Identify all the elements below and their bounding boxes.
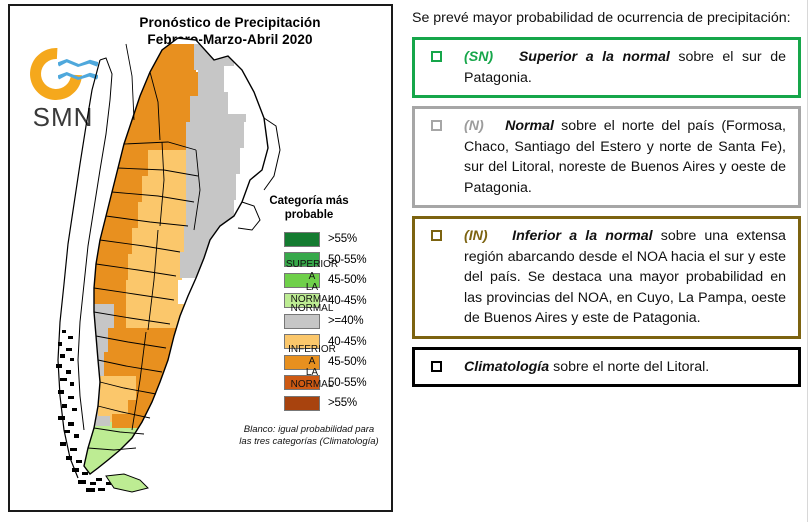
legend-note-line2: las tres categorías (Climatología) [228,436,390,448]
legend-title: Categoría más probable [228,194,390,222]
legend-group-superior-line2: LA NORMAL [284,282,340,305]
legend-item: >55% [284,229,390,250]
summary-panel: Se prevé mayor probabilidad de ocurrenci… [404,0,809,522]
category-emphasis-clim: Climatología [464,359,549,375]
legend-title-line2: probable [228,208,390,222]
legend-group-inferior-line1: INFERIOR A [284,344,340,367]
category-rest-clim: sobre el norte del Litoral. [553,359,709,375]
checkbox-icon [431,51,442,62]
legend-rows: SUPERIOR A LA NORMAL NORMAL INFERIOR A L… [284,229,390,414]
legend-label: >=40% [328,315,363,327]
forecast-box-climatologia-text: Climatología sobre el norte del Litoral. [464,357,790,378]
forecast-box-climatologia: Climatología sobre el norte del Litoral. [412,347,801,388]
forecast-box-superior: (SN) Superior a la normal sobre el sur d… [412,37,801,98]
legend-label: >55% [328,397,357,409]
chile-border [58,60,100,478]
legend-group-superior: SUPERIOR A LA NORMAL [284,259,340,305]
category-emphasis-in: Inferior a la normal [512,228,652,244]
legend-title-line1: Categoría más [228,194,390,208]
map-panel: Pronóstico de Precipitación Febrero-Marz… [8,4,393,512]
forecast-box-inferior: (IN) Inferior a la normal sobre una exte… [412,216,801,339]
map-title-line1: Pronóstico de Precipitación [70,14,390,31]
forecast-box-normal-text: (N) Normal sobre el norte del país (Form… [464,116,790,198]
legend-swatch [284,314,320,329]
tierra-del-fuego [106,474,148,492]
panel-divider [807,0,808,522]
legend-label: >55% [328,233,357,245]
category-code-n: (N) [464,118,484,134]
category-emphasis-n: Normal [505,118,554,134]
category-emphasis-sn: Superior a la normal [519,49,670,65]
legend-item: >55% [284,393,390,414]
legend-group-superior-line1: SUPERIOR A [284,259,340,282]
forecast-box-superior-text: (SN) Superior a la normal sobre el sur d… [464,47,790,88]
legend-group-normal: NORMAL [284,303,340,315]
legend-group-inferior: INFERIOR A LA NORMAL [284,344,340,390]
forecast-box-normal: (N) Normal sobre el norte del país (Form… [412,106,801,208]
legend-note: Blanco: igual probabilidad para las tres… [228,424,390,448]
intro-text: Se prevé mayor probabilidad de ocurrenci… [412,8,801,28]
legend-note-line1: Blanco: igual probabilidad para [228,424,390,436]
forecast-infographic: Pronóstico de Precipitación Febrero-Marz… [0,0,809,522]
checkbox-icon [431,120,442,131]
legend-swatch [284,396,320,411]
legend-group-inferior-line2: LA NORMAL [284,367,340,390]
legend-swatch [284,232,320,247]
checkbox-icon [431,230,442,241]
forecast-box-inferior-text: (IN) Inferior a la normal sobre una exte… [464,226,790,329]
map-legend: Categoría más probable SUPERIOR A LA NOR… [228,194,390,448]
category-code-sn: (SN) [464,49,493,65]
checkbox-icon [431,361,442,372]
category-code-in: (IN) [464,228,488,244]
